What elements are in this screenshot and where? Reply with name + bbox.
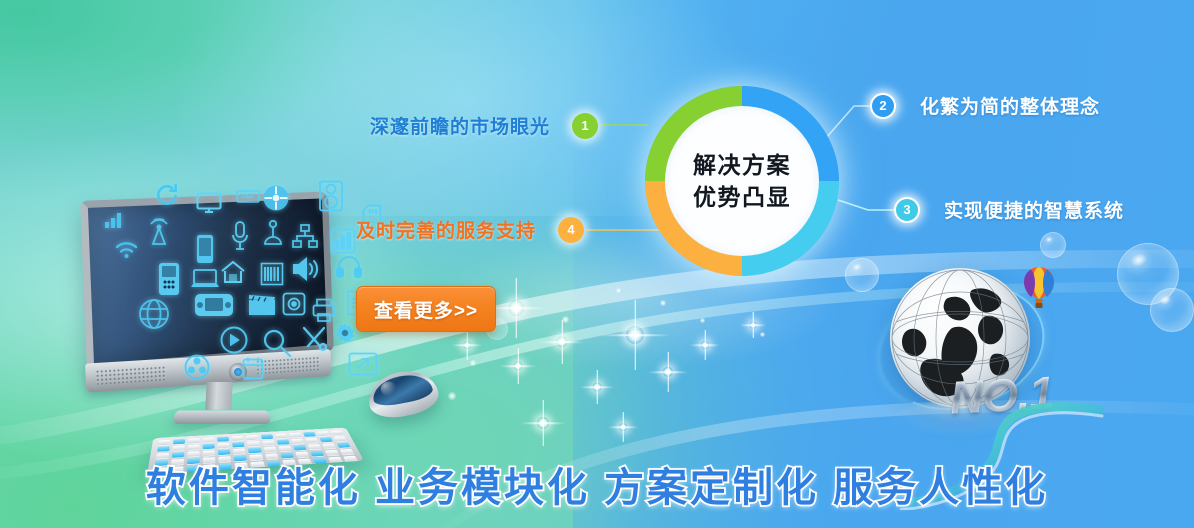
feature-phone-icon	[158, 262, 180, 296]
refresh-icon	[154, 182, 180, 208]
barcode-icon	[260, 262, 284, 286]
callout-1-label: 深邃前瞻的市场眼光	[370, 112, 550, 139]
floating-tech-icon-cloud	[96, 186, 396, 366]
callout-3[interactable]: 3 实现便捷的智慧系统	[894, 196, 1124, 223]
microphone-icon	[230, 220, 250, 252]
volume-icon	[290, 256, 322, 282]
joystick-icon	[262, 220, 284, 246]
speaker-icon	[318, 180, 344, 212]
play-button-icon	[220, 326, 248, 354]
view-more-button[interactable]: 查看更多>>	[356, 286, 496, 332]
callout-4-label: 及时完善的服务支持	[356, 216, 536, 243]
headphones-icon	[336, 254, 362, 278]
smartphone-icon	[196, 234, 214, 264]
promo-banner: NO.1 解决方案	[0, 0, 1194, 528]
signal-bars-icon	[104, 208, 126, 228]
media-disc-icon	[262, 184, 290, 212]
monitor-stand-neck	[205, 382, 232, 410]
callout-4-badge: 4	[558, 217, 584, 243]
broadcast-tower-icon	[144, 214, 174, 246]
callout-3-badge: 3	[894, 197, 920, 223]
callout-4[interactable]: 及时完善的服务支持 4	[356, 216, 584, 243]
center-line-2: 优势凸显	[693, 184, 791, 210]
callout-2-label: 化繁为简的整体理念	[920, 92, 1100, 119]
callout-2-badge: 2	[870, 93, 896, 119]
bottom-tagline: 软件智能化 业务模块化 方案定制化 服务人性化	[0, 455, 1194, 513]
search-icon	[262, 328, 292, 358]
callout-1[interactable]: 深邃前瞻的市场眼光 1	[370, 112, 598, 139]
globe-network-icon	[138, 298, 170, 330]
clapperboard-icon	[248, 294, 276, 316]
callout-1-badge: 1	[572, 113, 598, 139]
gear-icon	[334, 322, 356, 344]
callout-3-label: 实现便捷的智慧系统	[944, 196, 1124, 223]
hot-air-balloon-icon	[1022, 266, 1056, 310]
sitemap-icon	[292, 224, 318, 248]
laptop-icon	[190, 268, 220, 290]
home-icon	[220, 260, 246, 284]
callout-2[interactable]: 2 化繁为简的整体理念	[870, 92, 1100, 119]
donut-center-label: 解决方案 优势凸显	[665, 106, 819, 256]
center-line-1: 解决方案	[693, 152, 791, 178]
film-reel-icon	[184, 354, 210, 380]
keyboard-icon	[236, 188, 260, 204]
monitor-stand-base	[173, 410, 272, 424]
desktop-monitor-icon	[196, 192, 222, 214]
chart-icon	[330, 228, 356, 254]
tools-wrench-icon	[300, 324, 328, 352]
camera-icon	[282, 292, 306, 316]
window-arrow-icon	[348, 352, 378, 376]
handheld-console-icon	[194, 292, 234, 318]
printer-icon	[312, 298, 336, 322]
wifi-icon	[114, 238, 140, 260]
solution-donut-chart: 解决方案 优势凸显	[645, 86, 839, 276]
calendar-icon	[242, 356, 264, 380]
